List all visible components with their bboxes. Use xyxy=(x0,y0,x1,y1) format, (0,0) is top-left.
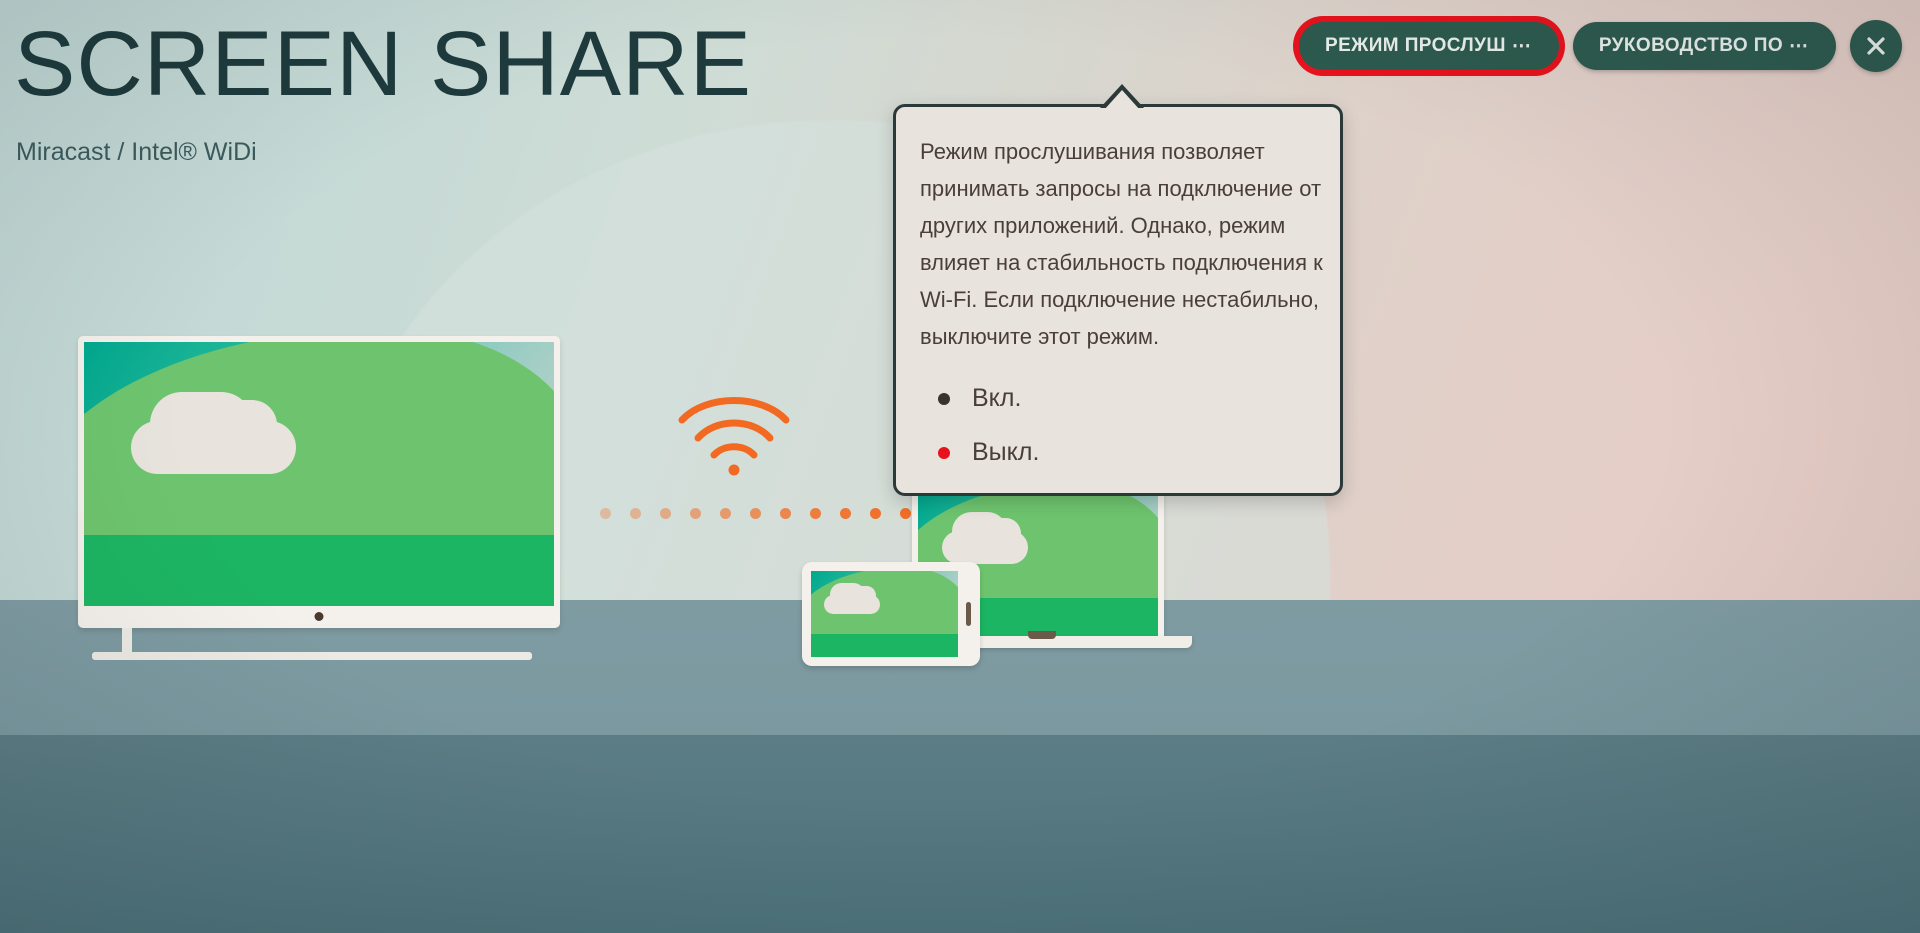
background-floor-front xyxy=(0,735,1920,933)
cloud-icon xyxy=(202,400,277,450)
close-button[interactable] xyxy=(1850,20,1902,72)
bullet-icon xyxy=(938,393,950,405)
guide-label: РУКОВОДСТВО ПО xyxy=(1599,35,1783,57)
tv-screen-art xyxy=(84,342,554,606)
connection-dot xyxy=(840,508,851,519)
connection-dot xyxy=(660,508,671,519)
option-off[interactable]: Выкл. xyxy=(938,435,1316,469)
tooltip-line: влияет на стабильность подключения к xyxy=(920,244,1316,281)
ellipsis-icon: ⋯ xyxy=(1789,35,1810,58)
page-title: SCREEN SHARE xyxy=(14,18,752,110)
screen-share-page: ражается SCREEN SHARE Miracast / Intel® … xyxy=(0,0,1920,933)
listening-mode-options: Вкл. Выкл. xyxy=(920,381,1316,469)
guide-button[interactable]: РУКОВОДСТВО ПО ⋯ xyxy=(1573,22,1836,70)
listening-mode-label: РЕЖИМ ПРОСЛУШ xyxy=(1325,35,1506,57)
connection-dot xyxy=(870,508,881,519)
tv-stand-foot xyxy=(92,652,532,660)
tooltip-line: Wi-Fi. Если подключение нестабильно, xyxy=(920,281,1316,318)
close-icon xyxy=(1864,34,1888,58)
option-label: Вкл. xyxy=(972,384,1021,412)
tablet-home-button xyxy=(966,602,971,626)
ground-shape xyxy=(84,535,554,606)
wifi-icon xyxy=(676,386,792,476)
option-label: Выкл. xyxy=(972,438,1039,466)
listening-mode-tooltip: Режим прослушивания позволяет принимать … xyxy=(893,104,1343,496)
tv-illustration xyxy=(78,336,560,628)
connection-dot xyxy=(720,508,731,519)
laptop-hinge-notch xyxy=(1028,631,1056,639)
bullet-icon-selected xyxy=(938,447,950,459)
tooltip-line: Режим прослушивания позволяет xyxy=(920,133,1316,170)
tooltip-line: выключите этот режим. xyxy=(920,318,1316,355)
cloud-icon xyxy=(849,586,875,605)
connection-dot xyxy=(900,508,911,519)
tooltip-line: принимать запросы на подключение от xyxy=(920,170,1316,207)
tooltip-line: других приложений. Однако, режим xyxy=(920,207,1316,244)
tablet-illustration xyxy=(802,562,980,666)
ground-shape xyxy=(811,634,958,657)
option-on[interactable]: Вкл. xyxy=(938,381,1316,415)
connection-dot xyxy=(750,508,761,519)
cloud-icon xyxy=(980,518,1021,549)
top-controls-bar: РЕЖИМ ПРОСЛУШ ⋯ РУКОВОДСТВО ПО ⋯ xyxy=(1299,20,1902,72)
connection-dot xyxy=(780,508,791,519)
tv-indicator-led xyxy=(315,612,324,621)
connection-dot xyxy=(810,508,821,519)
tooltip-description: Режим прослушивания позволяет принимать … xyxy=(920,133,1316,355)
listening-mode-button[interactable]: РЕЖИМ ПРОСЛУШ ⋯ xyxy=(1299,22,1559,70)
tooltip-caret-inner xyxy=(1104,90,1140,110)
tablet-screen-art xyxy=(811,571,958,657)
ellipsis-icon: ⋯ xyxy=(1512,35,1533,58)
page-subtitle: Miracast / Intel® WiDi xyxy=(16,138,257,167)
connection-dot xyxy=(630,508,641,519)
connection-dot xyxy=(690,508,701,519)
connection-dot xyxy=(600,508,611,519)
